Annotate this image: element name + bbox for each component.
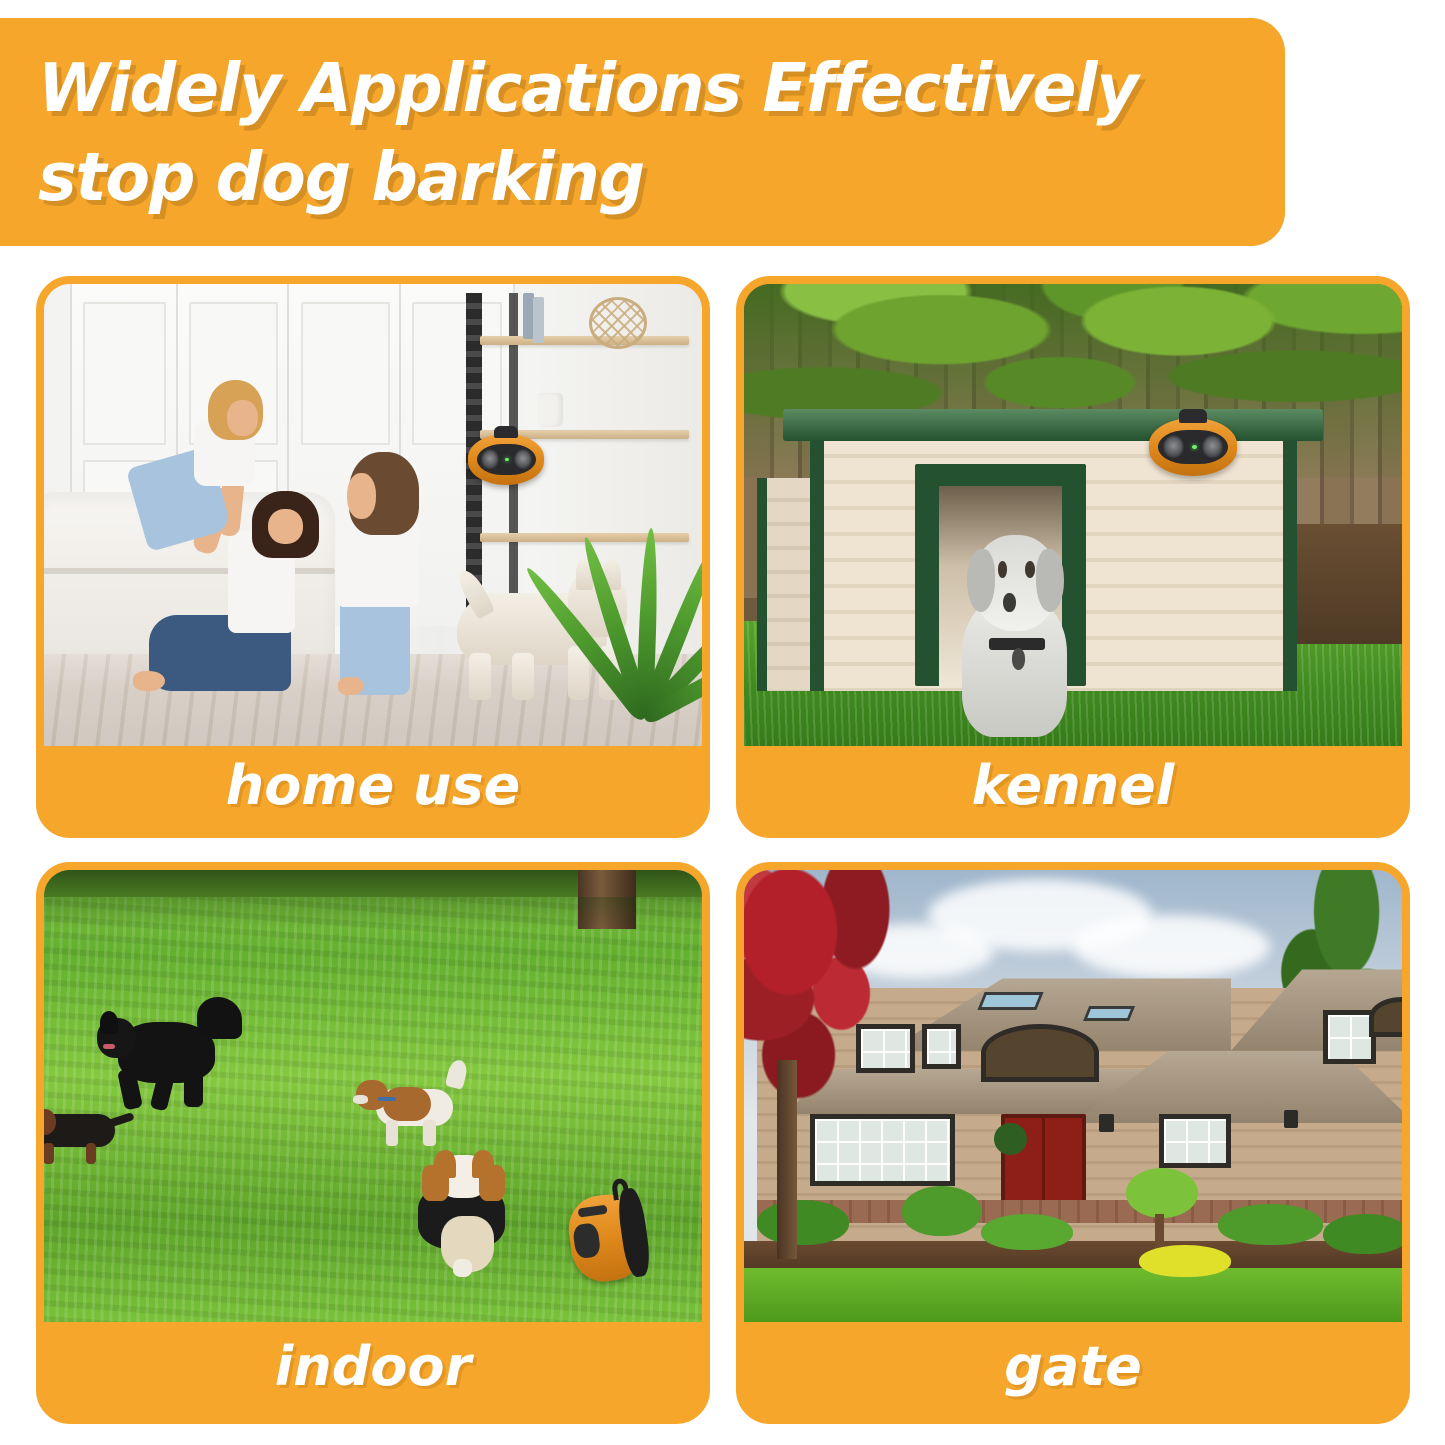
ceramic-cup-decor (537, 393, 563, 427)
photo-gate (744, 870, 1402, 1322)
door-wreath (994, 1123, 1027, 1155)
shelf-plank (480, 336, 688, 345)
device-speaker-right (514, 449, 532, 470)
application-cards-grid: home use (36, 276, 1410, 1424)
device-face-panel (477, 444, 536, 474)
shrub (1323, 1214, 1402, 1255)
door-inset (301, 302, 391, 445)
dog-figure-dachshund (44, 1105, 136, 1168)
device-knob (1179, 409, 1207, 423)
front-lawn (744, 1268, 1402, 1322)
device-face-panel (1158, 430, 1227, 465)
kennel-roof (783, 409, 1323, 441)
card-home-use[interactable]: home use (36, 276, 710, 838)
card-kennel[interactable]: kennel (736, 276, 1410, 838)
porch-lamp (1284, 1110, 1298, 1128)
tree-trunk (777, 1060, 797, 1259)
toddler-figure (136, 376, 274, 542)
child-figure (327, 436, 439, 695)
shrub (757, 1200, 849, 1245)
shrub (981, 1214, 1073, 1250)
photo-kennel (744, 284, 1402, 746)
skylight (977, 992, 1044, 1010)
ultrasonic-bark-control-device (1149, 418, 1238, 476)
card-caption-kennel: kennel (744, 746, 1402, 830)
dog-figure (948, 497, 1086, 737)
yellow-flower-bed (1139, 1245, 1231, 1277)
shrub (1218, 1204, 1323, 1245)
house-plant (551, 478, 702, 718)
porch-lamp (1099, 1114, 1113, 1132)
photo-home-use (44, 284, 702, 746)
header-banner: Widely Applications Effectively stop dog… (0, 18, 1285, 246)
page-title: Widely Applications Effectively stop dog… (38, 44, 1248, 222)
card-caption-indoor: indoor (44, 1322, 702, 1416)
card-caption-home-use: home use (44, 746, 702, 830)
wire-basket-decor (589, 297, 647, 349)
card-gate[interactable]: gate (736, 862, 1410, 1424)
card-indoor[interactable]: indoor (36, 862, 710, 1424)
ultrasonic-bark-control-device (468, 434, 544, 485)
red-maple-tree (744, 870, 955, 1150)
shrub (902, 1186, 981, 1236)
side-window (1159, 1114, 1231, 1168)
dog-figure-corgi (406, 1150, 524, 1277)
device-led-indicator (1192, 445, 1197, 449)
device-led-indicator (505, 458, 509, 462)
device-knob (494, 426, 518, 438)
device-speaker-left (481, 449, 499, 470)
arched-window (981, 1024, 1099, 1083)
device-speaker-left (1163, 435, 1184, 459)
dog-figure-jack-russell (353, 1069, 478, 1146)
photo-indoor (44, 870, 702, 1322)
upper-window-right (1323, 1010, 1376, 1064)
skylight (1083, 1006, 1135, 1021)
dog-figure-black (97, 997, 248, 1115)
device-speaker-right (1202, 435, 1223, 459)
topiary-ball (1126, 1168, 1198, 1218)
tree-shadow (44, 897, 702, 929)
book-decor (533, 297, 544, 343)
card-caption-gate: gate (744, 1322, 1402, 1416)
